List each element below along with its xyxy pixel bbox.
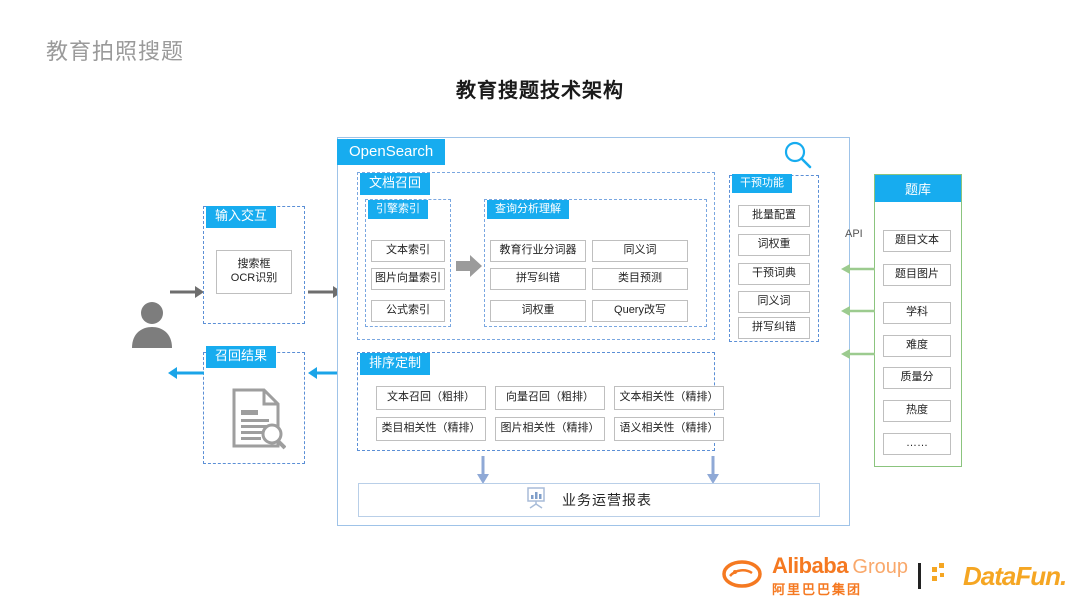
question-bank-item[interactable]: 质量分 [883, 367, 951, 389]
query-analysis-item[interactable]: 拼写纠错 [490, 268, 586, 290]
footer-logos: Alibaba Group 阿里巴巴集团 DataFun. [722, 556, 1066, 596]
intervention-item[interactable]: 干预词典 [738, 263, 810, 285]
engine-index-item[interactable]: 公式索引 [371, 300, 445, 322]
opensearch-title: OpenSearch [337, 139, 445, 165]
arrow-recall-to-user [168, 366, 204, 385]
sort-item[interactable]: 向量召回（粗排） [495, 386, 605, 410]
arrow-down-left-icon [477, 456, 489, 484]
arrow-user-to-input [170, 285, 204, 304]
alibaba-group: Group [852, 556, 908, 578]
intervention-title: 干预功能 [732, 174, 792, 193]
question-bank-item[interactable]: 题目图片 [883, 264, 951, 286]
sort-customization-title: 排序定制 [360, 353, 430, 375]
query-analysis-item[interactable]: 类目预测 [592, 268, 688, 290]
query-analysis-item[interactable]: Query改写 [592, 300, 688, 322]
intervention-item[interactable]: 同义词 [738, 291, 810, 313]
query-analysis-title: 查询分析理解 [487, 200, 569, 219]
footer-divider [918, 563, 921, 589]
datafun-wordmark: DataFun. [963, 561, 1066, 592]
search-ocr-box[interactable]: 搜索框 OCR识别 [216, 250, 292, 294]
query-analysis-item[interactable]: 同义词 [592, 240, 688, 262]
business-report-label: 业务运营报表 [562, 490, 652, 510]
slide-kicker: 教育拍照搜题 [46, 34, 184, 66]
intervention-item[interactable]: 拼写纠错 [738, 317, 810, 339]
api-label: API [845, 228, 863, 240]
question-bank-item[interactable]: …… [883, 433, 951, 455]
flow-arrow-right-icon [456, 253, 482, 279]
alibaba-name: Alibaba [772, 553, 848, 578]
api-arrow-icon [841, 304, 875, 316]
arrow-down-right-icon [707, 456, 719, 484]
question-bank-title: 题库 [875, 175, 961, 202]
search-icon[interactable] [783, 140, 813, 170]
sort-item[interactable]: 图片相关性（精排） [495, 417, 605, 441]
page-title: 教育搜题技术架构 [0, 74, 1080, 103]
document-search-icon [228, 388, 286, 450]
query-analysis-item[interactable]: 教育行业分词器 [490, 240, 586, 262]
api-arrow-icon [841, 262, 875, 274]
recall-result-title: 召回结果 [206, 346, 276, 368]
chart-board-icon [526, 487, 546, 514]
engine-index-item[interactable]: 文本索引 [371, 240, 445, 262]
alibaba-logo-mark [722, 559, 762, 594]
api-arrow-icon [841, 347, 875, 359]
input-interaction-title: 输入交互 [206, 206, 276, 228]
engine-index-title: 引擎索引 [368, 200, 428, 219]
engine-index-item[interactable]: 图片向量索引 [371, 268, 445, 290]
search-box-label: 搜索框 [231, 258, 277, 272]
ocr-label: OCR识别 [231, 272, 277, 286]
question-bank-item[interactable]: 学科 [883, 302, 951, 324]
user-avatar-icon [130, 300, 174, 348]
business-report-bar[interactable]: 业务运营报表 [358, 483, 820, 517]
sort-item[interactable]: 语义相关性（精排） [614, 417, 724, 441]
sort-item[interactable]: 文本相关性（精排） [614, 386, 724, 410]
alibaba-wordmark: Alibaba Group 阿里巴巴集团 [772, 555, 908, 598]
question-bank-item[interactable]: 难度 [883, 335, 951, 357]
sort-item[interactable]: 文本召回（粗排） [376, 386, 486, 410]
question-bank-item[interactable]: 题目文本 [883, 230, 951, 252]
alibaba-chinese-name: 阿里巴巴集团 [772, 579, 908, 598]
intervention-item[interactable]: 批量配置 [738, 205, 810, 227]
sort-item[interactable]: 类目相关性（精排） [376, 417, 486, 441]
datafun-dots-icon [931, 562, 953, 591]
document-recall-title: 文档召回 [360, 173, 430, 195]
intervention-item[interactable]: 词权重 [738, 234, 810, 256]
question-bank-item[interactable]: 热度 [883, 400, 951, 422]
query-analysis-item[interactable]: 词权重 [490, 300, 586, 322]
